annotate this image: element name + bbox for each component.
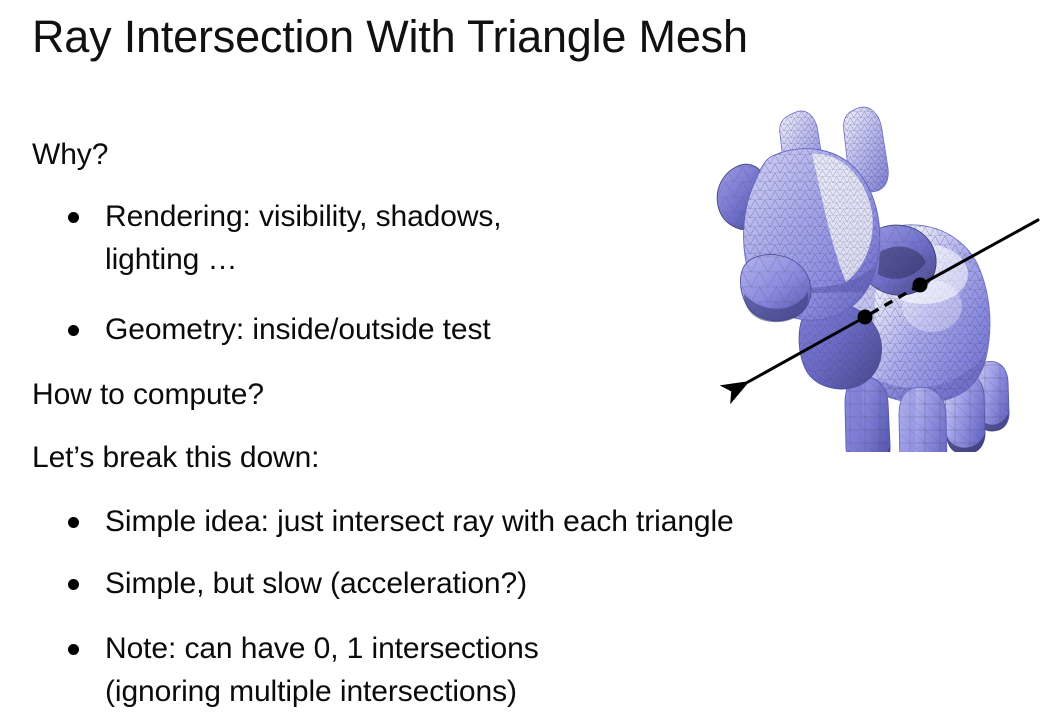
cow-mesh-figure (700, 92, 1058, 452)
body-line-how-to-compute: How to compute? (32, 376, 264, 414)
bullet-label: Geometry: inside/outside test (105, 311, 491, 349)
bullet-dot-icon (68, 579, 79, 590)
bullet-label: Simple idea: just intersect ray with eac… (105, 503, 734, 541)
bullet-simple-idea: Simple idea: just intersect ray with eac… (68, 503, 734, 541)
body-line-text: (ignoring multiple intersections) (105, 675, 517, 708)
ray-entry-point (913, 278, 928, 293)
body-line-text: Let’s break this down: (32, 441, 319, 474)
bullet-note-intersections: Note: can have 0, 1 intersections (68, 630, 539, 668)
bullet-dot-icon (68, 644, 79, 655)
bullet-dot-icon (68, 517, 79, 528)
bullet-note-continuation: (ignoring multiple intersections) (105, 673, 517, 711)
ray-exit-point (858, 310, 873, 325)
body-line-why: Why? (32, 136, 108, 174)
bullet-simple-but-slow: Simple, but slow (acceleration?) (68, 565, 527, 603)
bullet-rendering: Rendering: visibility, shadows, (68, 198, 502, 236)
bullet-dot-icon (68, 212, 79, 223)
body-line-text: lighting … (105, 243, 237, 276)
bullet-geometry: Geometry: inside/outside test (68, 311, 491, 349)
bullet-label: Rendering: visibility, shadows, (105, 198, 502, 236)
body-line-text: Why? (32, 138, 108, 171)
bullet-rendering-continuation: lighting … (105, 241, 237, 279)
body-line-lets-break-this-down: Let’s break this down: (32, 439, 319, 477)
cow-mesh-model (717, 107, 1016, 452)
bullet-label: Note: can have 0, 1 intersections (105, 630, 539, 668)
slide-canvas: Ray Intersection With Triangle Mesh Why?… (0, 0, 1058, 720)
bullet-label: Simple, but slow (acceleration?) (105, 565, 527, 603)
bullet-dot-icon (68, 325, 79, 336)
body-line-text: How to compute? (32, 378, 264, 411)
page-title: Ray Intersection With Triangle Mesh (32, 8, 748, 66)
